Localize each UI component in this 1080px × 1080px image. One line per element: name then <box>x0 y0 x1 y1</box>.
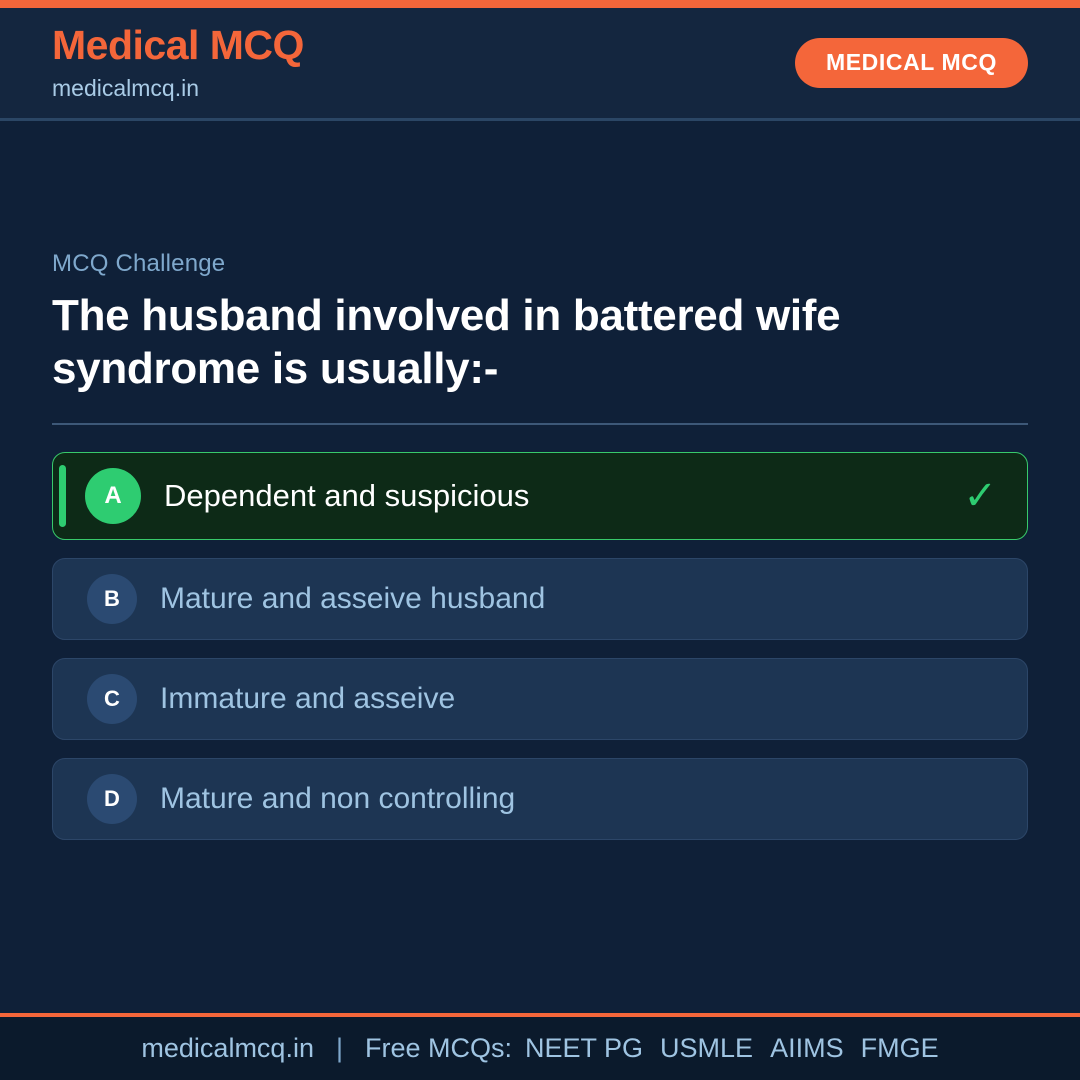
option-c-text: Immature and asseive <box>160 682 997 715</box>
option-b-badge: B <box>87 574 137 624</box>
footer-exam-fmge: FMGE <box>861 1035 939 1062</box>
footer-exam-usmle: USMLE <box>660 1035 753 1062</box>
brand-url: medicalmcq.in <box>52 77 304 100</box>
option-d-badge: D <box>87 774 137 824</box>
brand-title: Medical MCQ <box>52 25 304 66</box>
check-icon: ✓ <box>963 476 997 516</box>
page-header: Medical MCQ medicalmcq.in MEDICAL MCQ <box>0 8 1080 121</box>
option-a-badge: A <box>85 468 141 524</box>
option-a[interactable]: A Dependent and suspicious ✓ <box>52 452 1028 540</box>
option-b-text: Mature and asseive husband <box>160 582 997 615</box>
footer-site: medicalmcq.in <box>141 1035 314 1062</box>
footer-exam-neet-pg: NEET PG <box>525 1035 643 1062</box>
content-wrapper: MCQ Challenge The husband involved in ba… <box>52 252 1028 840</box>
option-d-text: Mature and non controlling <box>160 782 997 815</box>
brand-block: Medical MCQ medicalmcq.in <box>52 25 304 100</box>
footer-text: medicalmcq.in | Free MCQs: NEET PG USMLE… <box>141 1035 938 1062</box>
option-c[interactable]: C Immature and asseive <box>52 658 1028 740</box>
top-accent-bar <box>0 0 1080 8</box>
option-d[interactable]: D Mature and non controlling <box>52 758 1028 840</box>
options-list: A Dependent and suspicious ✓ B Mature an… <box>52 452 1028 840</box>
option-c-badge: C <box>87 674 137 724</box>
mcq-card: Medical MCQ medicalmcq.in MEDICAL MCQ MC… <box>0 0 1080 1080</box>
footer-label: Free MCQs: <box>365 1035 512 1062</box>
footer-exam-aiims: AIIMS <box>770 1035 844 1062</box>
eyebrow-label: MCQ Challenge <box>52 252 1028 276</box>
main-content: MCQ Challenge The husband involved in ba… <box>0 121 1080 1013</box>
footer-separator: | <box>336 1035 343 1062</box>
option-b[interactable]: B Mature and asseive husband <box>52 558 1028 640</box>
question-divider <box>52 423 1028 425</box>
question-text: The husband involved in battered wife sy… <box>52 290 1028 395</box>
page-footer: medicalmcq.in | Free MCQs: NEET PG USMLE… <box>0 1017 1080 1080</box>
option-a-text: Dependent and suspicious <box>164 479 951 513</box>
correct-accent-bar <box>59 465 66 527</box>
header-badge: MEDICAL MCQ <box>795 38 1028 88</box>
